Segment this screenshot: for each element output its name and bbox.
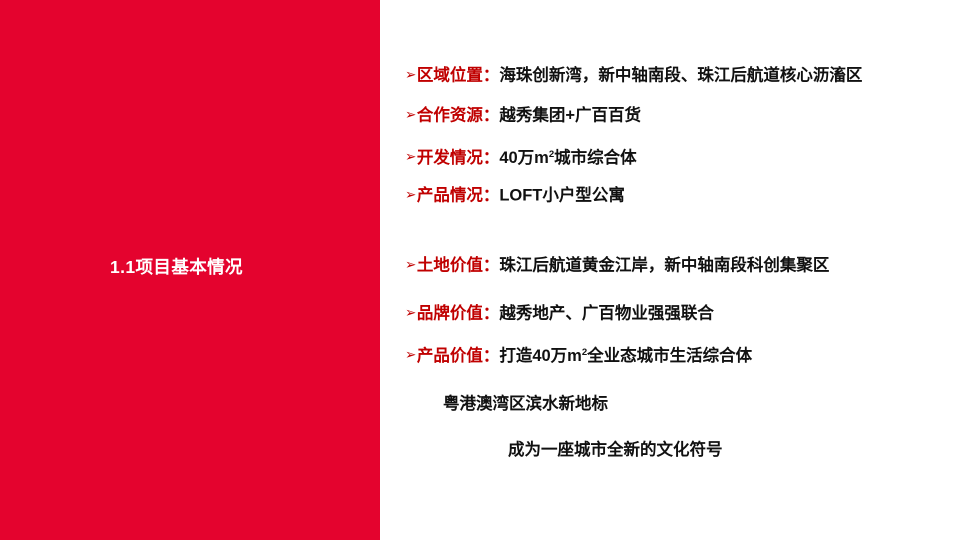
bullet-value: 珠江后航道黄金江岸，新中轴南段科创集聚区: [499, 257, 829, 275]
bullet-value-post: 城市综合体: [554, 149, 637, 167]
bullet-development-status: ➢开发情况：40万m2城市综合体: [405, 144, 637, 169]
bullet-label: 产品价值：: [417, 347, 500, 365]
bullet-label: 开发情况：: [417, 149, 500, 167]
bullet-value-post: 全业态城市生活综合体: [587, 347, 752, 365]
left-red-panel: 1.1项目基本情况: [0, 0, 380, 540]
tagline-waterfront-landmark: 粤港澳湾区滨水新地标: [443, 393, 608, 415]
bullet-arrow-icon: ➢: [405, 184, 416, 206]
bullet-arrow-icon: ➢: [405, 302, 416, 324]
slide-canvas: 1.1项目基本情况 ➢区域位置：海珠创新湾，新中轴南段、珠江后航道核心沥滀区 ➢…: [0, 0, 960, 540]
bullet-brand-value: ➢品牌价值：越秀地产、广百物业强强联合: [405, 302, 714, 325]
tagline-cultural-symbol: 成为一座城市全新的文化符号: [508, 439, 723, 461]
bullet-land-value: ➢土地价值：珠江后航道黄金江岸，新中轴南段科创集聚区: [405, 254, 829, 277]
bullet-value: 越秀集团+广百百货: [499, 107, 641, 125]
bullet-value: 越秀地产、广百物业强强联合: [499, 305, 714, 323]
bullet-partner-resource: ➢合作资源：越秀集团+广百百货: [405, 104, 641, 127]
bullet-value-pre: 40万m: [499, 149, 549, 167]
bullet-product-status: ➢产品情况：LOFT小户型公寓: [405, 184, 625, 207]
bullet-arrow-icon: ➢: [405, 146, 416, 168]
bullet-product-value: ➢产品价值：打造40万m2全业态城市生活综合体: [405, 342, 752, 367]
bullet-region-location: ➢区域位置：海珠创新湾，新中轴南段、珠江后航道核心沥滀区: [405, 64, 862, 87]
bullet-label: 区域位置：: [417, 67, 500, 85]
bullet-value: LOFT小户型公寓: [499, 187, 625, 205]
bullet-arrow-icon: ➢: [405, 64, 416, 86]
bullet-label: 土地价值：: [417, 257, 500, 275]
bullet-label: 合作资源：: [417, 107, 500, 125]
bullet-label: 品牌价值：: [417, 305, 500, 323]
bullet-arrow-icon: ➢: [405, 254, 416, 276]
bullet-value: 海珠创新湾，新中轴南段、珠江后航道核心沥滀区: [499, 67, 862, 85]
content-area: ➢区域位置：海珠创新湾，新中轴南段、珠江后航道核心沥滀区 ➢合作资源：越秀集团+…: [380, 0, 960, 540]
bullet-label: 产品情况：: [417, 187, 500, 205]
bullet-arrow-icon: ➢: [405, 104, 416, 126]
page-title: 1.1项目基本情况: [110, 255, 270, 280]
bullet-arrow-icon: ➢: [405, 344, 416, 366]
bullet-value-pre: 打造40万m: [499, 347, 582, 365]
